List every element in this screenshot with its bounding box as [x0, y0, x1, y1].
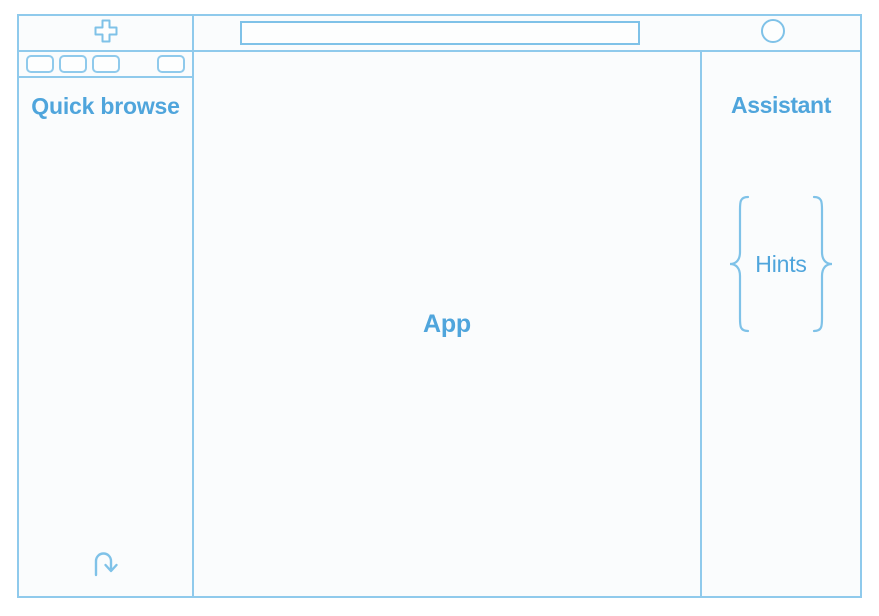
app-label: App: [423, 310, 471, 339]
top-bar: [19, 16, 860, 52]
plus-icon[interactable]: [92, 17, 120, 50]
assistant-title: Assistant: [702, 92, 860, 119]
u-turn-arrow-icon[interactable]: [89, 547, 123, 584]
topbar-search-zone: [194, 16, 685, 50]
app-content-area: App: [194, 52, 700, 596]
hints-block: Hints: [702, 194, 860, 334]
hints-label: Hints: [755, 251, 806, 278]
brace-left-icon: [727, 194, 753, 334]
screen-root: Quick browse App Assistant: [0, 0, 879, 616]
window-frame: Quick browse App Assistant: [17, 14, 862, 598]
brace-right-icon: [809, 194, 835, 334]
sidebar-footer: [19, 547, 192, 584]
circle-avatar-icon[interactable]: [760, 18, 786, 49]
assistant-panel: Assistant Hints: [700, 52, 860, 596]
sidebar-panel: Quick browse: [19, 52, 194, 596]
body-row: Quick browse App Assistant: [19, 52, 860, 596]
sidebar-title: Quick browse: [19, 92, 192, 121]
topbar-add-zone: [19, 16, 194, 50]
search-input[interactable]: [240, 21, 640, 45]
topbar-account-zone: [685, 16, 860, 50]
